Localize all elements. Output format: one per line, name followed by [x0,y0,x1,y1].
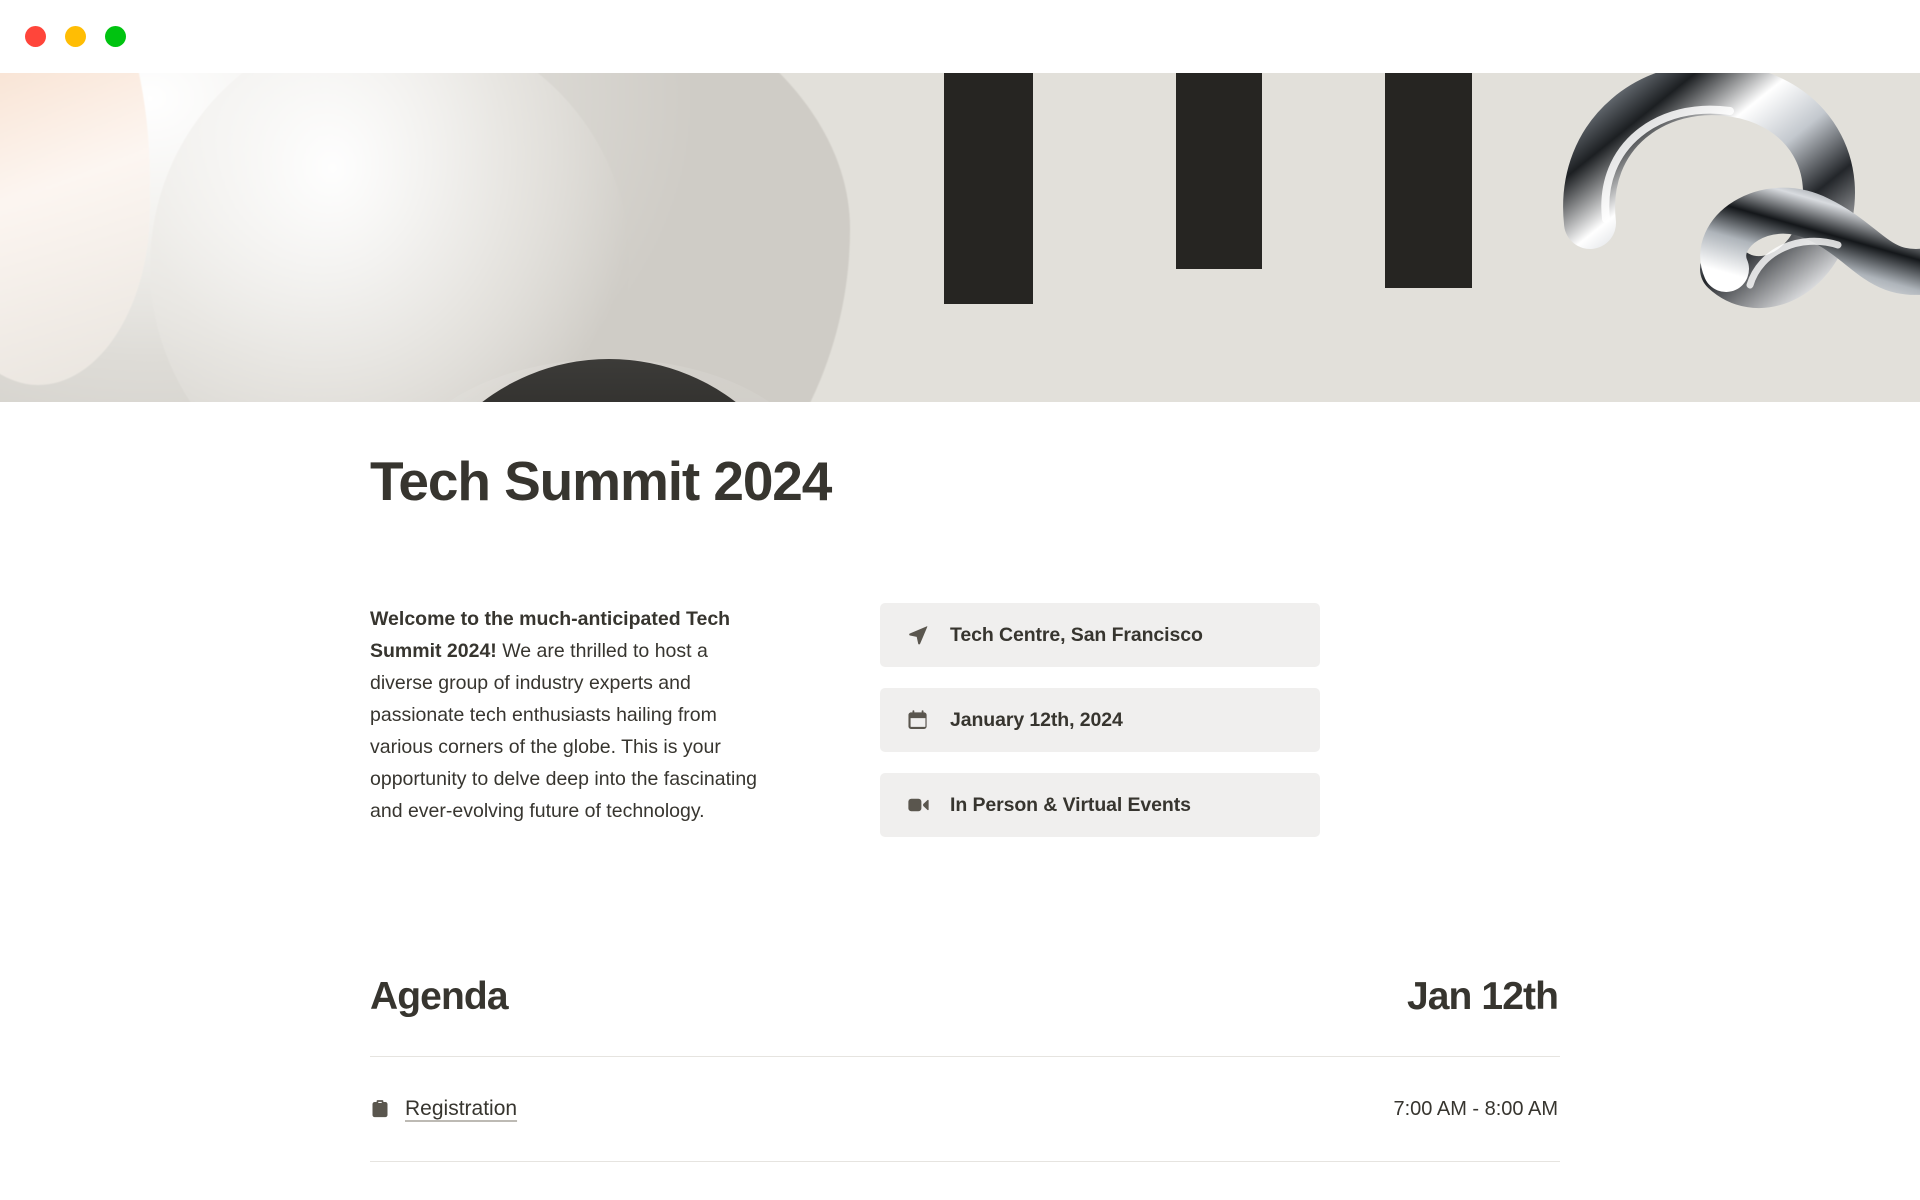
traffic-lights [25,26,126,47]
hero-dark-bar-3 [1385,73,1472,288]
info-card-location[interactable]: Tech Centre, San Francisco [880,603,1320,667]
info-card-format-label: In Person & Virtual Events [950,794,1191,817]
hero-pearl-blob-shape [0,73,850,402]
close-button[interactable] [25,26,46,47]
hero-banner [0,73,1920,402]
event-info-cards: Tech Centre, San Francisco January 12th,… [880,603,1320,837]
calendar-icon [907,709,929,731]
intro-text-column: Welcome to the much-anticipated Tech Sum… [370,603,770,837]
info-card-date[interactable]: January 12th, 2024 [880,688,1320,752]
info-card-location-label: Tech Centre, San Francisco [950,624,1203,647]
hero-dark-bar-1 [944,73,1033,304]
agenda-title: Agenda [370,975,508,1019]
maximize-button[interactable] [105,26,126,47]
hero-dark-bar-2 [1176,73,1262,269]
page-body: Tech Summit 2024 Welcome to the much-ant… [0,449,1920,1162]
agenda-item-time: 7:00 AM - 8:00 AM [1393,1098,1560,1121]
agenda-item-registration[interactable]: Registration [370,1097,517,1121]
agenda-section: Agenda Jan 12th Registration 7:00 AM - 8… [370,975,1560,1162]
minimize-button[interactable] [65,26,86,47]
agenda-header: Agenda Jan 12th [370,975,1560,1057]
hero-chrome-swirl-shape [1560,73,1920,402]
agenda-date: Jan 12th [1407,975,1560,1019]
intro-section: Welcome to the much-anticipated Tech Sum… [370,603,1560,837]
agenda-row: Registration 7:00 AM - 8:00 AM [370,1057,1560,1162]
video-icon [907,794,929,816]
agenda-item-label[interactable]: Registration [405,1097,517,1121]
navigation-icon [907,624,929,646]
intro-paragraph: Welcome to the much-anticipated Tech Sum… [370,603,770,827]
window-titlebar [0,0,1920,73]
intro-paragraph-rest: We are thrilled to host a diverse group … [370,640,757,822]
page-title: Tech Summit 2024 [370,449,1560,513]
info-card-format[interactable]: In Person & Virtual Events [880,773,1320,837]
clipboard-icon [370,1099,390,1119]
info-card-date-label: January 12th, 2024 [950,709,1123,732]
